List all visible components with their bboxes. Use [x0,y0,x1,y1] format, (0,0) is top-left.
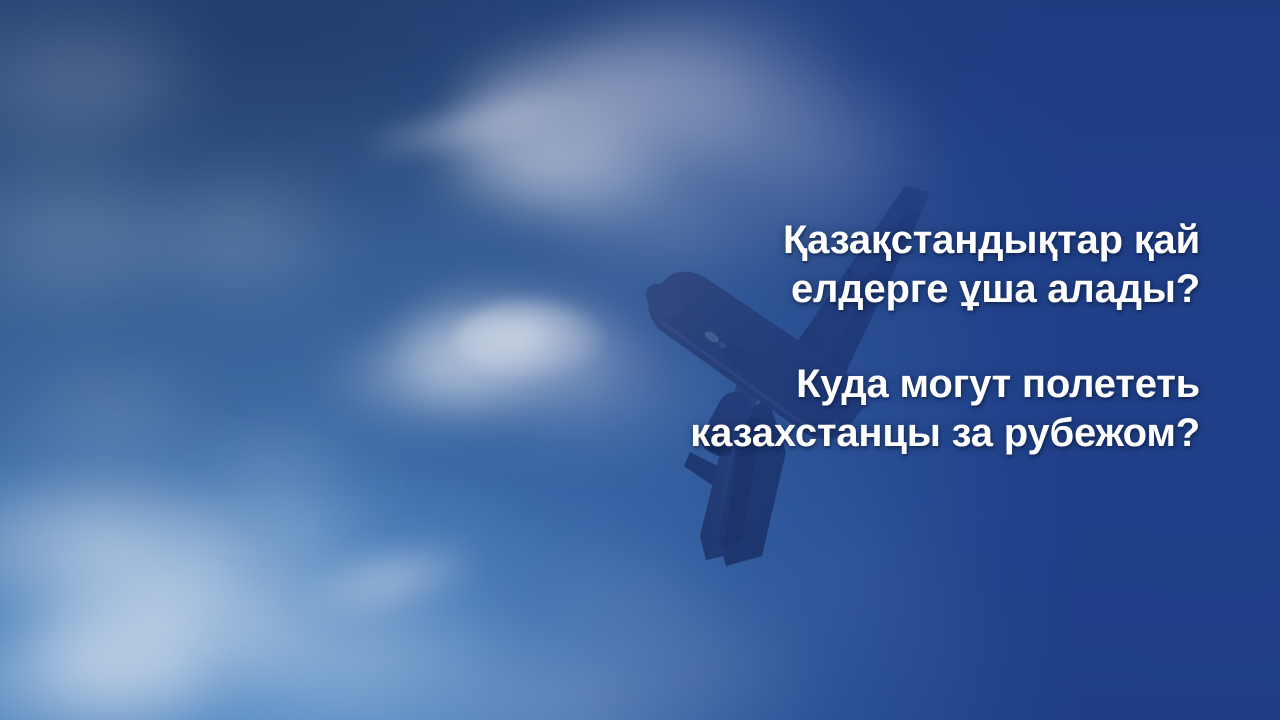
headline-block: Қазақстандықтар қай елдерге ұша алады? К… [680,216,1200,458]
headline-russian: Куда могут полететь казахстанцы за рубеж… [680,360,1200,458]
headline-kazakh: Қазақстандықтар қай елдерге ұша алады? [680,216,1200,314]
banner-image: Қазақстандықтар қай елдерге ұша алады? К… [0,0,1280,720]
